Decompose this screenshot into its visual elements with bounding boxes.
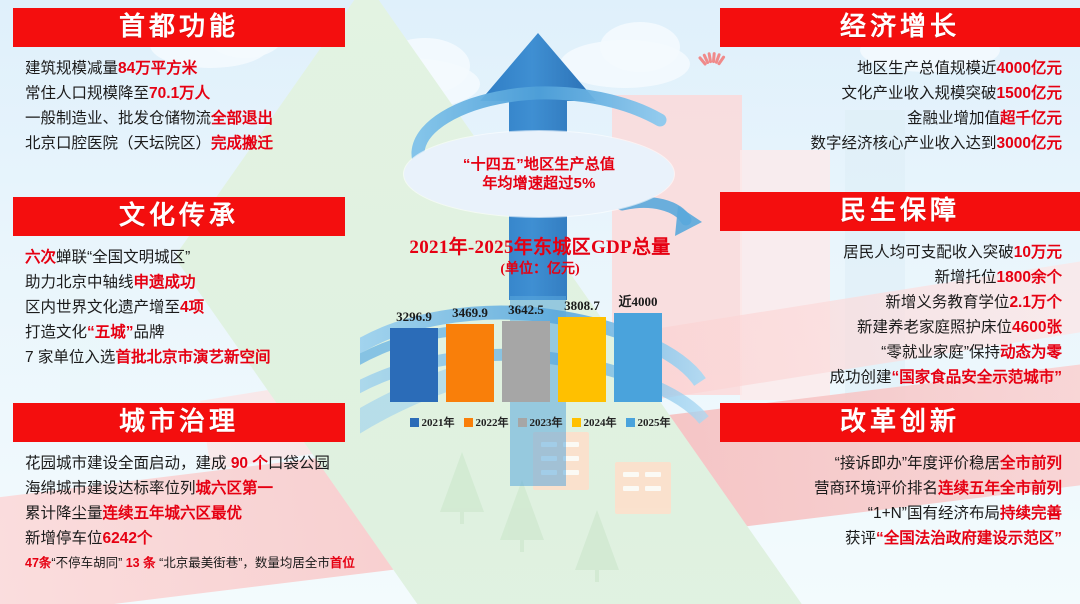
panel-text-line: 打造文化“五城”品牌 [13,320,363,345]
gdp-bar-chart: 3296.93469.93642.53808.7近4000 [390,292,690,402]
legend-item: 2023年 [518,414,563,430]
bar-column: 3808.7 [558,317,606,402]
legend-label: 2022年 [476,414,509,430]
panel-text-line: “1+N”国有经济布局持续完善 [720,501,1080,526]
panel-text-line: 数字经济核心产业收入达到3000亿元 [720,131,1080,156]
bar-group: 3296.93469.93642.53808.7近4000 [390,302,690,402]
panel-livelihood: 民生保障 居民人均可支配收入突破10万元新增托位1800余个新增义务教育学位2.… [720,192,1080,390]
panel-lines: 六次蝉联“全国文明城区”助力北京中轴线申遗成功区内世界文化遗产增至4项打造文化“… [13,236,363,370]
legend-swatch [626,418,635,427]
legend-item: 2024年 [572,414,617,430]
panel-text-line: 花园城市建设全面启动，建成 90 个口袋公园 [13,451,363,476]
annotation-line-1: “十四五”地区生产总值 [463,155,615,174]
panel-title-economic-growth: 经济增长 [720,8,1080,47]
chart-title: 2021年-2025年东城区GDP总量 [360,232,720,259]
panel-text-line: 累计降尘量连续五年城六区最优 [13,501,363,526]
panel-text-line: 一般制造业、批发仓储物流全部退出 [13,106,363,131]
bar-column: 3296.9 [390,328,438,402]
legend-label: 2024年 [584,414,617,430]
panel-text-line: 区内世界文化遗产增至4项 [13,295,363,320]
bar-value-label: 3469.9 [452,305,488,321]
bar-2025年 [614,313,662,402]
panel-title-reform-innovation: 改革创新 [720,403,1080,442]
panel-text-line: 常住人口规模降至70.1万人 [13,81,363,106]
bar-value-label: 近4000 [618,291,657,310]
panel-reform-innovation: 改革创新 “接诉即办”年度评价稳居全市前列营商环境评价排名连续五年全市前列“1+… [720,403,1080,551]
legend-swatch [518,418,527,427]
legend-label: 2025年 [638,414,671,430]
panel-lines: 建筑规模减量84万平方米常住人口规模降至70.1万人一般制造业、批发仓储物流全部… [13,47,363,156]
panel-lines: 居民人均可支配收入突破10万元新增托位1800余个新增义务教育学位2.1万个新建… [720,231,1080,390]
legend-item: 2022年 [464,414,509,430]
chart-unit: (单位：亿元) [360,258,720,278]
panel-city-governance: 城市治理 花园城市建设全面启动，建成 90 个口袋公园海绵城市建设达标率位列城六… [13,403,363,576]
panel-lines: 花园城市建设全面启动，建成 90 个口袋公园海绵城市建设达标率位列城六区第一累计… [13,442,363,576]
panel-text-line: 六次蝉联“全国文明城区” [13,245,363,270]
panel-text-line: 新增停车位6242个 [13,526,363,551]
bar-value-label: 3808.7 [564,298,600,314]
panel-culture-heritage: 文化传承 六次蝉联“全国文明城区”助力北京中轴线申遗成功区内世界文化遗产增至4项… [13,197,363,370]
panel-title-city-governance: 城市治理 [13,403,345,442]
center-graphic: “十四五”地区生产总值 年均增速超过5% 2021年-2025年东城区GDP总量… [360,0,720,604]
chart-legend: 2021年2022年2023年2024年2025年 [350,414,730,430]
panel-text-line: 建筑规模减量84万平方米 [13,56,363,81]
panel-text-line: 文化产业收入规模突破1500亿元 [720,81,1080,106]
panel-capital-function: 首都功能 建筑规模减量84万平方米常住人口规模降至70.1万人一般制造业、批发仓… [13,8,363,156]
panel-text-line: 营商环境评价排名连续五年全市前列 [720,476,1080,501]
panel-text-line: 新增义务教育学位2.1万个 [720,290,1080,315]
annotation-line-2: 年均增速超过5% [482,174,595,193]
panel-text-line: “零就业家庭”保持动态为零 [720,340,1080,365]
panel-text-line: 北京口腔医院（天坛院区）完成搬迁 [13,131,363,156]
panel-text-line: 助力北京中轴线申遗成功 [13,270,363,295]
bar-2021年 [390,328,438,402]
annotation-badge: “十四五”地区生产总值 年均增速超过5% [404,131,674,217]
bar-column: 3469.9 [446,324,494,402]
bar-value-label: 3296.9 [396,309,432,325]
panel-text-line: 新增托位1800余个 [720,265,1080,290]
panel-text-line: “接诉即办”年度评价稳居全市前列 [720,451,1080,476]
legend-item: 2025年 [626,414,671,430]
panel-text-line: 47条“不停车胡同” 13 条 “北京最美街巷”，数量均居全市首位 [13,551,363,576]
bar-2022年 [446,324,494,402]
legend-swatch [572,418,581,427]
panel-text-line: 成功创建“国家食品安全示范城市” [720,365,1080,390]
legend-swatch [464,418,473,427]
panel-title-livelihood: 民生保障 [720,192,1080,231]
bar-2024年 [558,317,606,402]
panel-text-line: 金融业增加值超千亿元 [720,106,1080,131]
panel-text-line: 海绵城市建设达标率位列城六区第一 [13,476,363,501]
legend-item: 2021年 [410,414,455,430]
bar-value-label: 3642.5 [508,302,544,318]
panel-text-line: 7 家单位入选首批北京市演艺新空间 [13,345,363,370]
panel-lines: “接诉即办”年度评价稳居全市前列营商环境评价排名连续五年全市前列“1+N”国有经… [720,442,1080,551]
bar-2023年 [502,321,550,402]
panel-text-line: 获评“全国法治政府建设示范区” [720,526,1080,551]
infographic-canvas: “十四五”地区生产总值 年均增速超过5% 2021年-2025年东城区GDP总量… [0,0,1080,604]
panel-economic-growth: 经济增长 地区生产总值规模近4000亿元文化产业收入规模突破1500亿元金融业增… [720,8,1080,156]
panel-title-capital-function: 首都功能 [13,8,345,47]
legend-label: 2023年 [530,414,563,430]
panel-text-line: 地区生产总值规模近4000亿元 [720,56,1080,81]
bar-column: 近4000 [614,313,662,402]
panel-text-line: 新建养老家庭照护床位4600张 [720,315,1080,340]
panel-text-line: 居民人均可支配收入突破10万元 [720,240,1080,265]
legend-label: 2021年 [422,414,455,430]
panel-title-culture-heritage: 文化传承 [13,197,345,236]
panel-lines: 地区生产总值规模近4000亿元文化产业收入规模突破1500亿元金融业增加值超千亿… [720,47,1080,156]
legend-swatch [410,418,419,427]
bar-column: 3642.5 [502,321,550,402]
